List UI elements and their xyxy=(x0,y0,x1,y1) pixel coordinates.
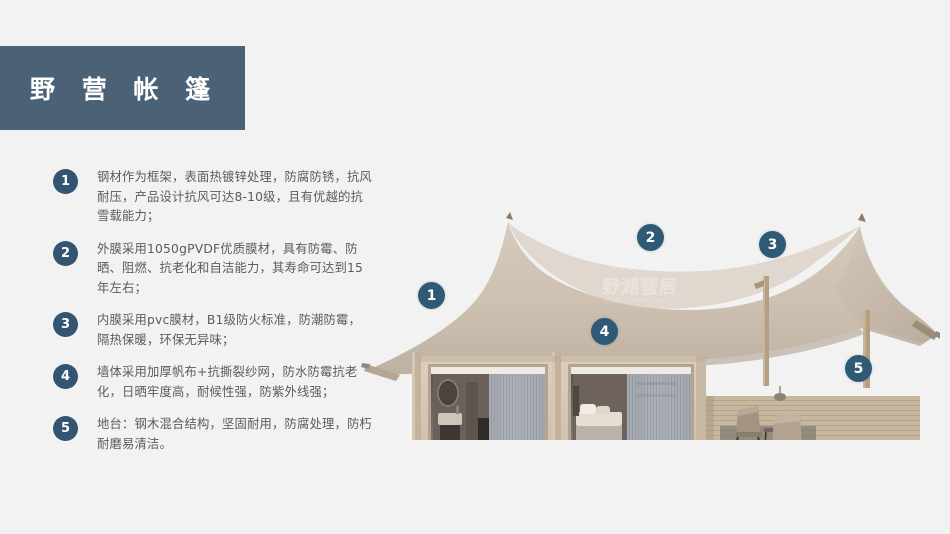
spec-list: 1 钢材作为框架，表面热镀锌处理，防腐防锈，抗风耐压，产品设计抗风可达8-10级… xyxy=(53,168,373,467)
spec-badge-1: 1 xyxy=(53,169,78,194)
spec-badge-5: 5 xyxy=(53,416,78,441)
lounge-chair-right xyxy=(771,413,805,440)
list-item: 2 外膜采用1050gPVDF优质膜材，具有防霉、防晒、阻燃、抗老化和自洁能力，… xyxy=(53,240,373,299)
spec-text-5: 地台：钢木混合结构，坚固耐用，防腐处理，防朽耐磨易清洁。 xyxy=(97,415,373,454)
callout-3[interactable]: 3 xyxy=(759,231,786,258)
tent-illustration xyxy=(360,150,940,440)
spec-text-1: 钢材作为框架，表面热镀锌处理，防腐防锈，抗风耐压，产品设计抗风可达8-10级，且… xyxy=(97,168,373,227)
callout-4[interactable]: 4 xyxy=(591,318,618,345)
spec-badge-2: 2 xyxy=(53,241,78,266)
list-item: 3 内膜采用pvc膜材，B1级防火标准，防潮防霉，隔热保暖，环保无异味； xyxy=(53,311,373,350)
page-title-bar: 野 营 帐 篷 xyxy=(0,46,245,130)
slide-canvas: 野 营 帐 篷 1 钢材作为框架，表面热镀锌处理，防腐防锈，抗风耐压，产品设计抗… xyxy=(0,0,950,534)
spec-text-4: 墙体采用加厚帆布+抗撕裂纱网，防水防霉抗老化，日晒牢度高，耐候性强，防紫外线强； xyxy=(97,363,373,402)
list-item: 1 钢材作为框架，表面热镀锌处理，防腐防锈，抗风耐压，产品设计抗风可达8-10级… xyxy=(53,168,373,227)
porch-terrace xyxy=(706,386,920,440)
callout-1[interactable]: 1 xyxy=(418,282,445,309)
window-bathroom xyxy=(428,364,548,440)
spec-badge-3: 3 xyxy=(53,312,78,337)
spec-badge-4: 4 xyxy=(53,364,78,389)
spec-text-2: 外膜采用1050gPVDF优质膜材，具有防霉、防晒、阻燃、抗老化和自洁能力，其寿… xyxy=(97,240,373,299)
spec-text-3: 内膜采用pvc膜材，B1级防火标准，防潮防霉，隔热保暖，环保无异味； xyxy=(97,311,373,350)
callout-5[interactable]: 5 xyxy=(845,355,872,382)
callout-2[interactable]: 2 xyxy=(637,224,664,251)
list-item: 5 地台：钢木混合结构，坚固耐用，防腐处理，防朽耐磨易清洁。 xyxy=(53,415,373,454)
list-item: 4 墙体采用加厚帆布+抗撕裂纱网，防水防霉抗老化，日晒牢度高，耐候性强，防紫外线… xyxy=(53,363,373,402)
pendant-lamp xyxy=(774,386,786,401)
window-bedroom xyxy=(568,364,694,440)
page-title: 野 营 帐 篷 xyxy=(30,70,219,106)
